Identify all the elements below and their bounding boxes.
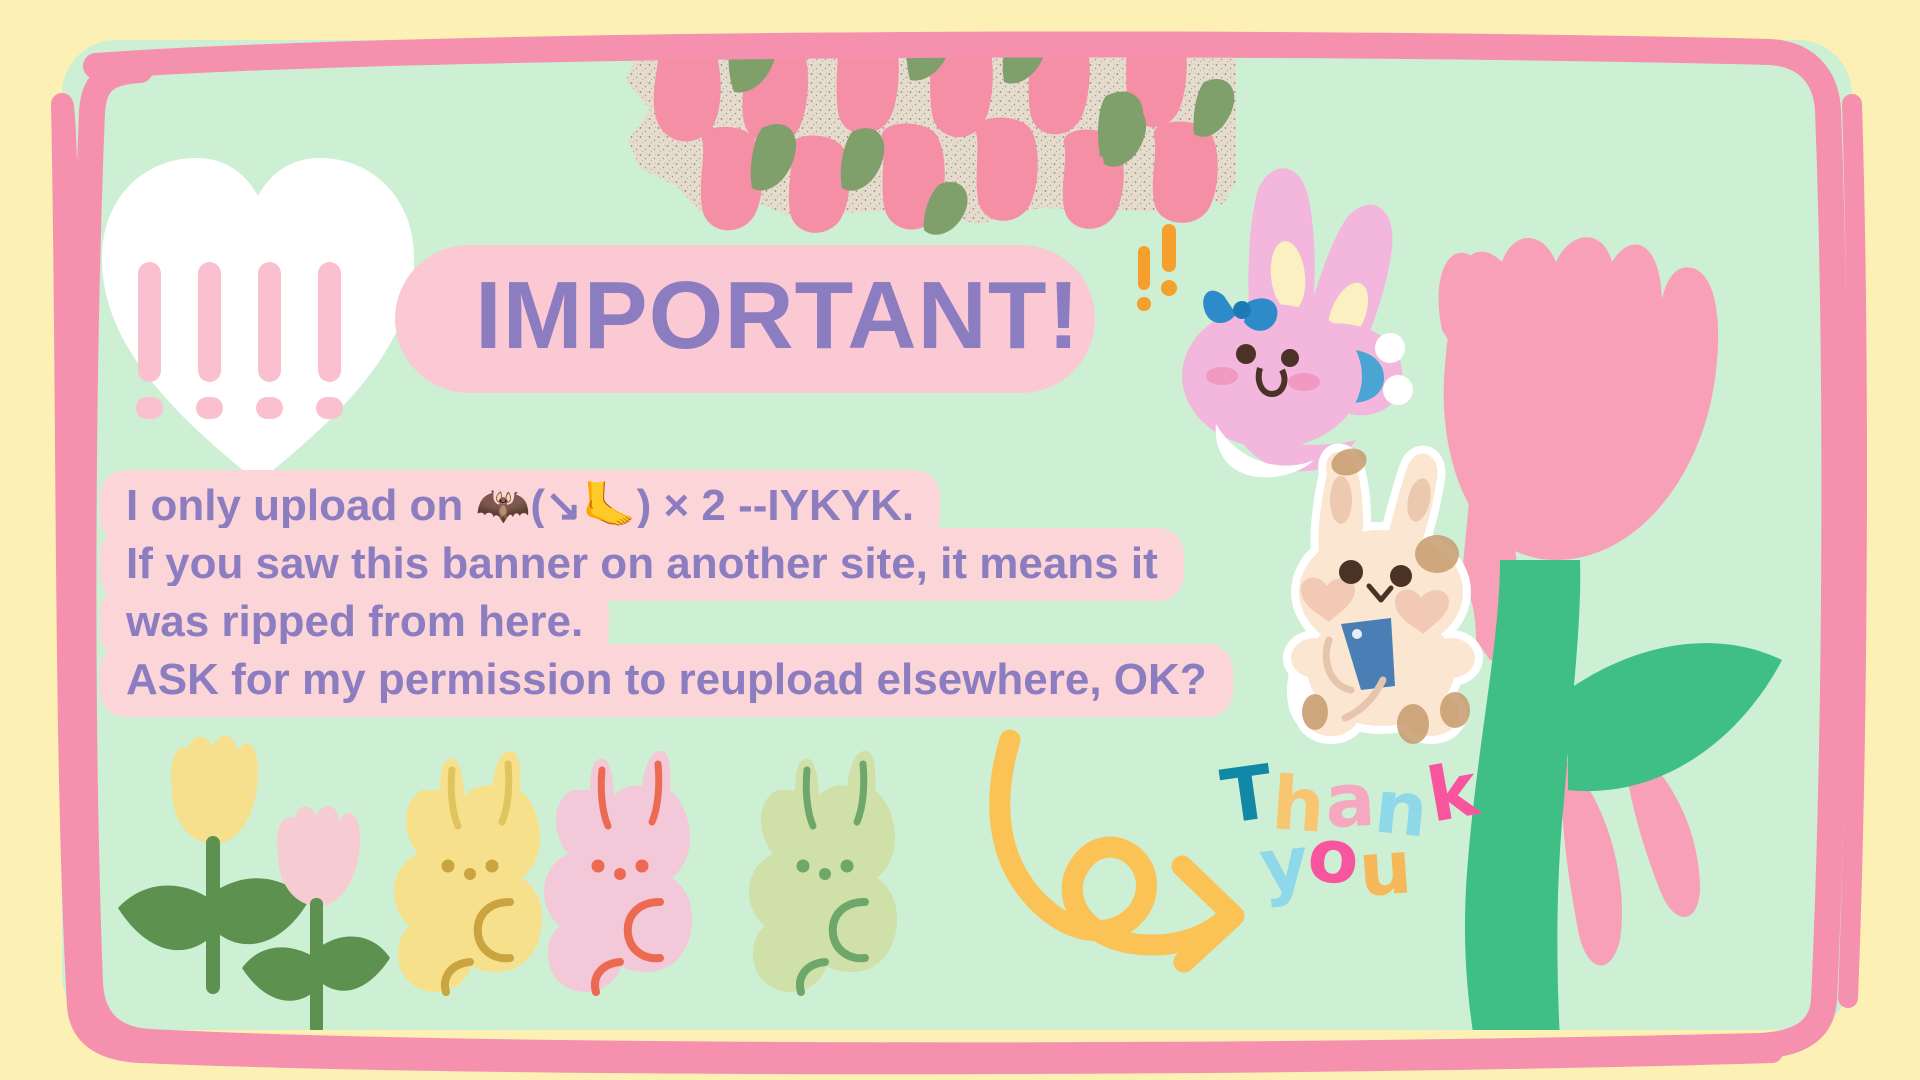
banner-canvas: IMPORTANT! I only upload on 🦇(↘🦶) × 2 --… [0, 0, 1920, 1080]
hand-drawn-frame [0, 0, 1920, 1080]
